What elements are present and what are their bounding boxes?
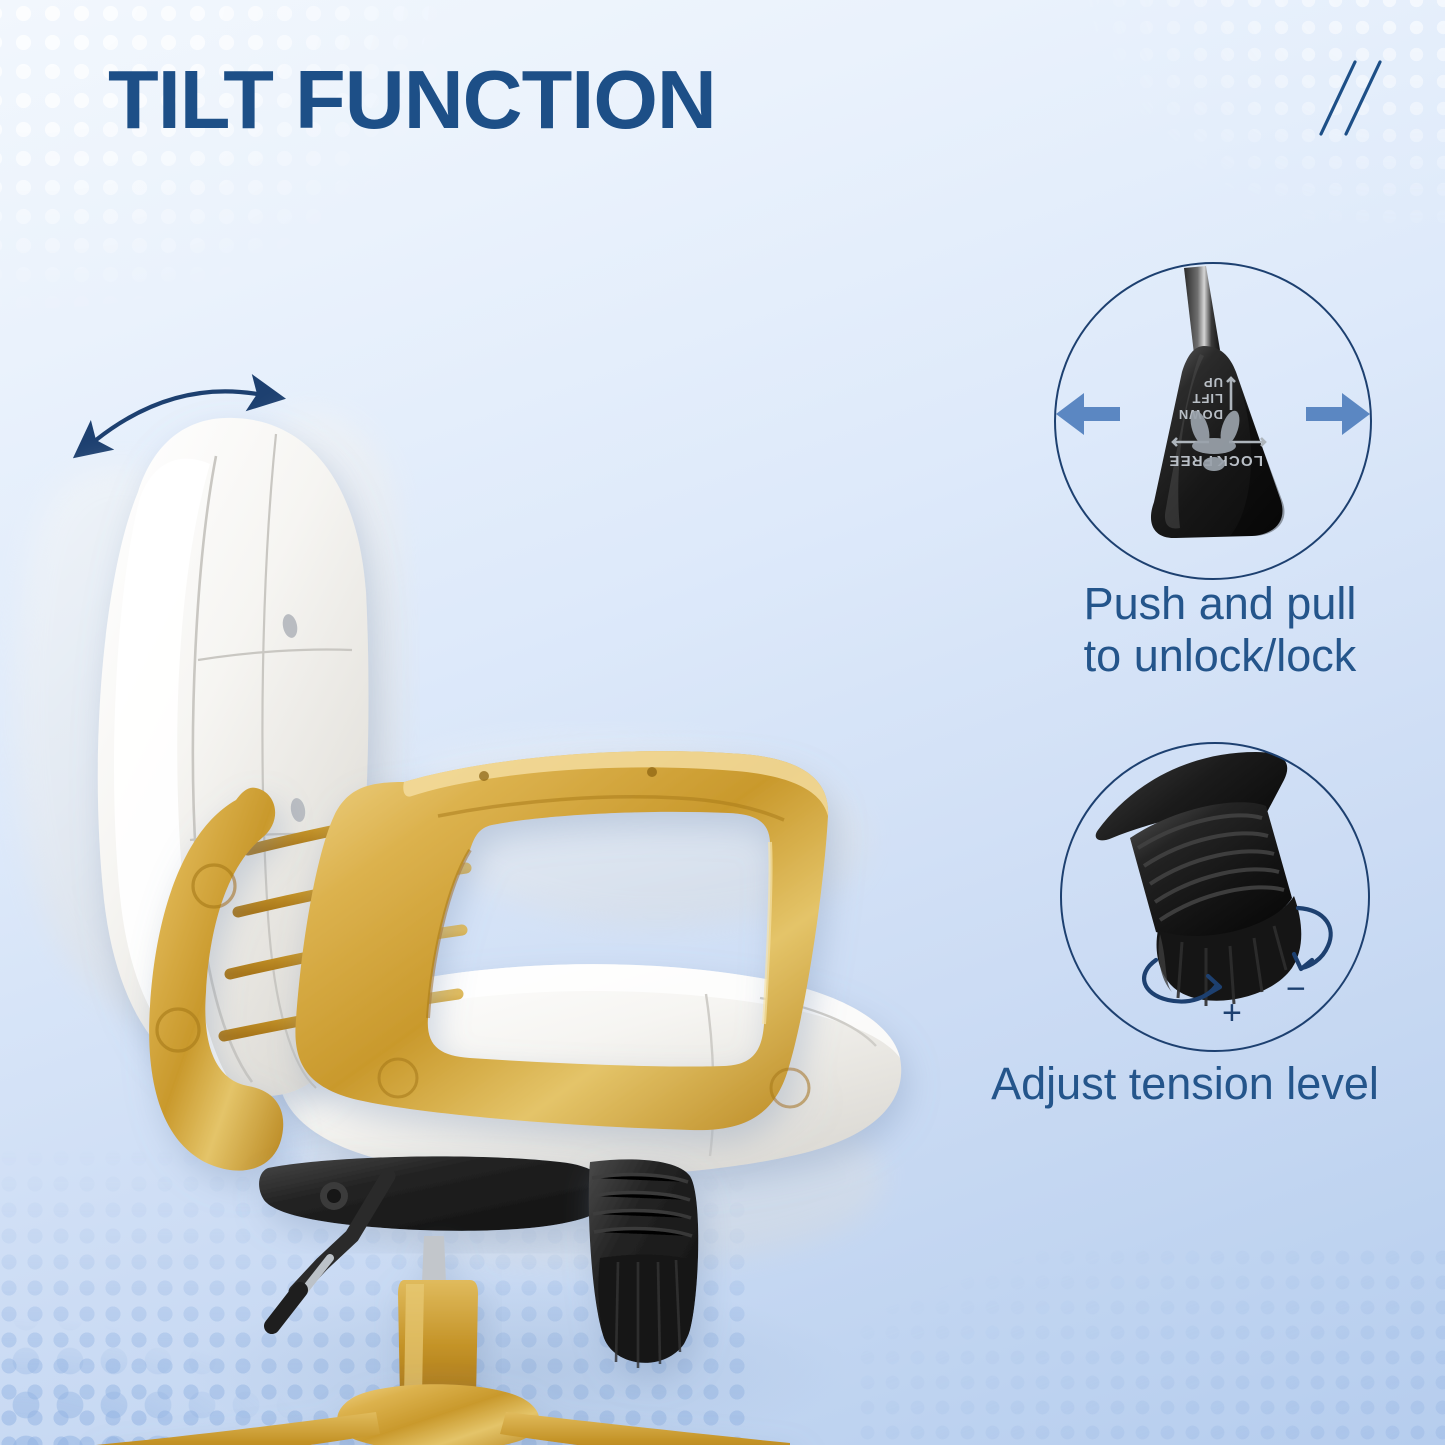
double-slash-icon — [1309, 56, 1383, 138]
tension-knob-part — [589, 1159, 699, 1368]
caption-line-1: Push and pull — [1000, 578, 1440, 630]
callout-ring-1 — [1054, 262, 1372, 580]
callout-caption-lock: Push and pull to unlock/lock — [1000, 578, 1440, 682]
gold-armrest — [295, 751, 828, 1130]
callout-lock-lever: LOCK FREE UP LIFT DOWN — [1054, 262, 1372, 580]
office-chair-side-view — [0, 330, 1010, 1445]
caption-line-2: to unlock/lock — [1000, 630, 1440, 682]
gas-cylinder — [398, 1236, 478, 1400]
callout-ring-2 — [1060, 742, 1370, 1052]
callout-caption-tension: Adjust tension level — [930, 1058, 1440, 1110]
page-title: TILT FUNCTION — [108, 58, 716, 141]
tilt-mechanism — [259, 1156, 609, 1231]
callout-tension-knob: + − — [1060, 742, 1370, 1052]
infographic-canvas: TILT FUNCTION — [0, 0, 1445, 1445]
caption-line-1: Adjust tension level — [930, 1058, 1440, 1110]
